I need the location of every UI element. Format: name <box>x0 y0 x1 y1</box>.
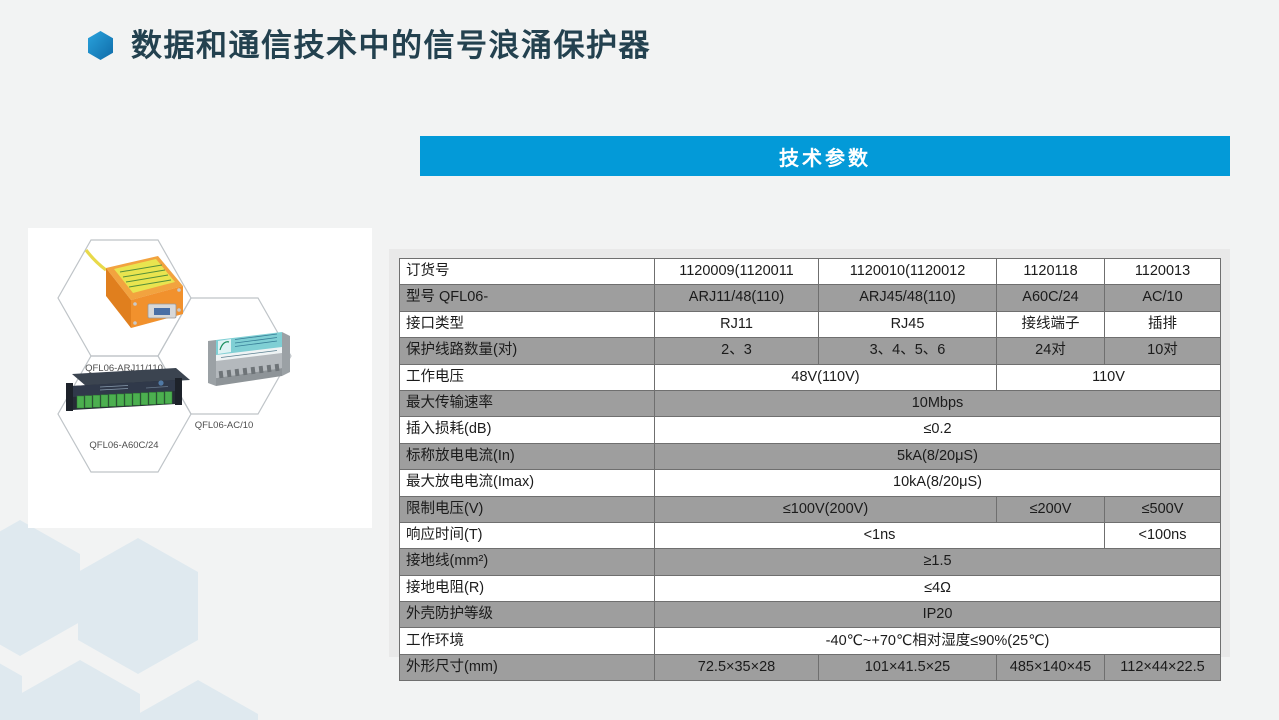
product-caption-2: QFL06-AC/10 <box>195 420 254 431</box>
table-row-label: 工作电压 <box>400 364 655 390</box>
table-row: 最大传输速率10Mbps <box>400 390 1221 416</box>
table-cell: ARJ45/48(110) <box>819 285 997 311</box>
table-row-label: 标称放电电流(In) <box>400 443 655 469</box>
table-cell: 1120013 <box>1105 259 1221 285</box>
table-cell: 72.5×35×28 <box>655 654 819 680</box>
table-cell: IP20 <box>655 602 1221 628</box>
table-row: 限制电压(V)≤100V(200V)≤200V≤500V <box>400 496 1221 522</box>
table-row-label: 订货号 <box>400 259 655 285</box>
product-caption-3: QFL06-A60C/24 <box>89 440 158 451</box>
table-cell: ≤200V <box>997 496 1105 522</box>
table-row: 订货号1120009(11200111120010(11200121120118… <box>400 259 1221 285</box>
table-row: 标称放电电流(In)5kA(8/20μS) <box>400 443 1221 469</box>
table-row: 工作环境-40℃~+70℃相对湿度≤90%(25℃) <box>400 628 1221 654</box>
table-cell: 24对 <box>997 338 1105 364</box>
table-cell: 112×44×22.5 <box>1105 654 1221 680</box>
honeycomb-background-decoration <box>0 510 390 720</box>
table-cell: ≤500V <box>1105 496 1221 522</box>
table-cell: <1ns <box>655 522 1105 548</box>
table-row: 工作电压48V(110V)110V <box>400 364 1221 390</box>
table-row: 最大放电电流(Imax)10kA(8/20μS) <box>400 470 1221 496</box>
table-row-label: 外形尺寸(mm) <box>400 654 655 680</box>
table-cell: RJ11 <box>655 311 819 337</box>
table-row-label: 外壳防护等级 <box>400 602 655 628</box>
table-row: 保护线路数量(对)2、33、4、5、624对10对 <box>400 338 1221 364</box>
table-row: 接地电阻(R)≤4Ω <box>400 575 1221 601</box>
table-cell: 48V(110V) <box>655 364 997 390</box>
table-row-label: 保护线路数量(对) <box>400 338 655 364</box>
table-row: 响应时间(T)<1ns<100ns <box>400 522 1221 548</box>
table-row: 接地线(mm²)≥1.5 <box>400 549 1221 575</box>
page-title: 数据和通信技术中的信号浪涌保护器 <box>131 30 651 61</box>
table-row-label: 接地电阻(R) <box>400 575 655 601</box>
table-row-label: 限制电压(V) <box>400 496 655 522</box>
table-cell: 485×140×45 <box>997 654 1105 680</box>
table-cell: 5kA(8/20μS) <box>655 443 1221 469</box>
table-row-label: 插入损耗(dB) <box>400 417 655 443</box>
table-cell: 110V <box>997 364 1221 390</box>
table-row-label: 响应时间(T) <box>400 522 655 548</box>
table-row-label: 最大传输速率 <box>400 390 655 416</box>
table-row-label: 工作环境 <box>400 628 655 654</box>
table-row: 接口类型RJ11RJ45接线端子插排 <box>400 311 1221 337</box>
table-cell: 3、4、5、6 <box>819 338 997 364</box>
spec-table-frame: 订货号1120009(11200111120010(11200121120118… <box>389 249 1230 657</box>
table-cell: ≤100V(200V) <box>655 496 997 522</box>
table-cell: A60C/24 <box>997 285 1105 311</box>
table-row-label: 接口类型 <box>400 311 655 337</box>
table-row: 型号 QFL06-ARJ11/48(110)ARJ45/48(110)A60C/… <box>400 285 1221 311</box>
table-cell: 接线端子 <box>997 311 1105 337</box>
table-cell: ≤0.2 <box>655 417 1221 443</box>
table-row: 插入损耗(dB)≤0.2 <box>400 417 1221 443</box>
slide-canvas: 数据和通信技术中的信号浪涌保护器 技术参数 <box>0 0 1279 720</box>
table-cell: RJ45 <box>819 311 997 337</box>
page-title-row: 数据和通信技术中的信号浪涌保护器 <box>88 30 651 61</box>
table-cell: <100ns <box>1105 522 1221 548</box>
table-cell: -40℃~+70℃相对湿度≤90%(25℃) <box>655 628 1221 654</box>
table-row-label: 最大放电电流(Imax) <box>400 470 655 496</box>
table-cell: 10对 <box>1105 338 1221 364</box>
table-cell: 插排 <box>1105 311 1221 337</box>
table-row-label: 接地线(mm²) <box>400 549 655 575</box>
hexagon-icon <box>88 31 113 60</box>
table-cell: AC/10 <box>1105 285 1221 311</box>
product-image-panel: QFL06-ARJ11/110 <box>28 228 372 528</box>
table-cell: ARJ11/48(110) <box>655 285 819 311</box>
table-row: 外壳防护等级IP20 <box>400 602 1221 628</box>
section-banner: 技术参数 <box>420 136 1230 176</box>
table-cell: 10Mbps <box>655 390 1221 416</box>
table-cell: 2、3 <box>655 338 819 364</box>
table-cell: 1120009(1120011 <box>655 259 819 285</box>
table-cell: 101×41.5×25 <box>819 654 997 680</box>
table-cell: 1120010(1120012 <box>819 259 997 285</box>
table-cell: 10kA(8/20μS) <box>655 470 1221 496</box>
table-cell: 1120118 <box>997 259 1105 285</box>
table-cell: ≥1.5 <box>655 549 1221 575</box>
spec-table: 订货号1120009(11200111120010(11200121120118… <box>399 258 1221 681</box>
table-row-label: 型号 QFL06- <box>400 285 655 311</box>
section-banner-label: 技术参数 <box>779 142 871 171</box>
table-cell: ≤4Ω <box>655 575 1221 601</box>
table-row: 外形尺寸(mm)72.5×35×28101×41.5×25485×140×451… <box>400 654 1221 680</box>
